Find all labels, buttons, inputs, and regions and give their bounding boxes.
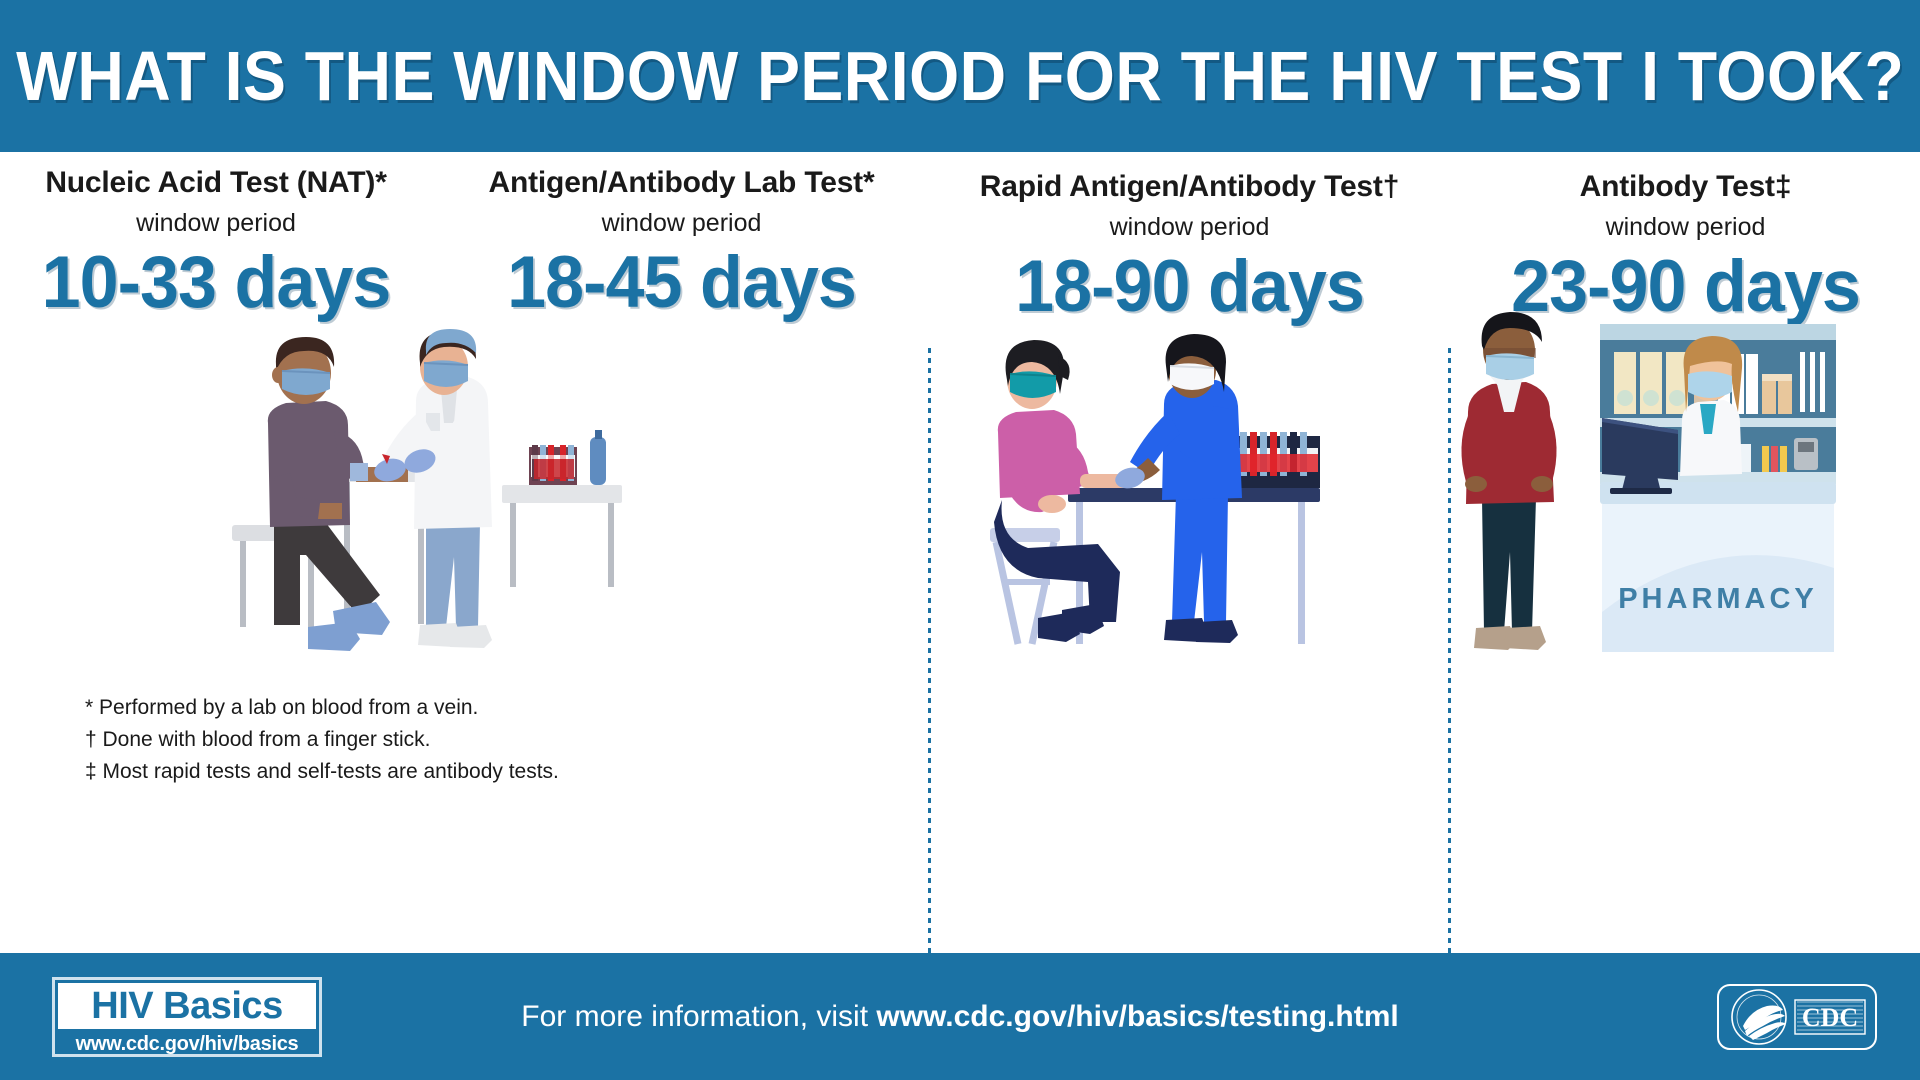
window-period-label: window period bbox=[1451, 215, 1920, 240]
footnotes: * Performed by a lab on blood from a vei… bbox=[85, 692, 559, 788]
footer-cta: For more information, visit www.cdc.gov/… bbox=[521, 1000, 1398, 1034]
header-bar: WHAT IS THE WINDOW PERIOD FOR THE HIV TE… bbox=[0, 0, 1920, 152]
window-period-value: 18-45 days bbox=[445, 246, 918, 319]
test-column-rapid-antigen-antibody: Rapid Antigen/Antibody Test† window peri… bbox=[931, 152, 1448, 323]
footnote-asterisk: * Performed by a lab on blood from a vei… bbox=[85, 692, 559, 724]
footnote-dagger: † Done with blood from a finger stick. bbox=[85, 724, 559, 756]
column-divider-2 bbox=[928, 348, 931, 973]
test-title: Antigen/Antibody Lab Test* bbox=[435, 166, 928, 199]
footer-bar: HIV Basics www.cdc.gov/hiv/basics For mo… bbox=[0, 953, 1920, 1080]
main-content: Nucleic Acid Test (NAT)* window period 1… bbox=[0, 152, 1920, 953]
test-title: Antibody Test‡ bbox=[1451, 170, 1920, 203]
cdc-wordmark: CDC bbox=[1795, 1000, 1865, 1034]
phlebotomy-blood-draw-illustration bbox=[230, 327, 630, 667]
test-column-nucleic-acid: Nucleic Acid Test (NAT)* window period 1… bbox=[0, 152, 432, 319]
svg-text:CDC: CDC bbox=[1802, 1003, 1858, 1032]
hiv-basics-logo-plate: HIV Basics bbox=[58, 983, 316, 1029]
window-period-value: 10-33 days bbox=[9, 246, 424, 319]
cdc-hhs-logo[interactable]: CDC bbox=[1717, 984, 1877, 1050]
hiv-basics-url: www.cdc.gov/hiv/basics bbox=[58, 1029, 316, 1054]
window-period-label: window period bbox=[931, 215, 1448, 240]
hiv-basics-title: HIV Basics bbox=[91, 987, 282, 1025]
hiv-basics-logo[interactable]: HIV Basics www.cdc.gov/hiv/basics bbox=[52, 977, 322, 1057]
window-period-label: window period bbox=[435, 211, 928, 236]
infographic-page: WHAT IS THE WINDOW PERIOD FOR THE HIV TE… bbox=[0, 0, 1920, 1080]
pharmacy-sign-text: PHARMACY bbox=[1618, 583, 1818, 615]
window-period-label: window period bbox=[0, 211, 432, 236]
test-column-antigen-antibody-lab: Antigen/Antibody Lab Test* window period… bbox=[435, 152, 928, 319]
finger-stick-rapid-test-illustration bbox=[980, 332, 1320, 672]
page-title: WHAT IS THE WINDOW PERIOD FOR THE HIV TE… bbox=[16, 36, 1904, 116]
test-title: Nucleic Acid Test (NAT)* bbox=[0, 166, 432, 199]
pharmacy-counter-illustration: PHARMACY bbox=[1450, 312, 1840, 657]
footer-cta-prefix: For more information, visit bbox=[521, 1000, 876, 1033]
test-title: Rapid Antigen/Antibody Test† bbox=[931, 170, 1448, 203]
footer-cta-link[interactable]: www.cdc.gov/hiv/basics/testing.html bbox=[876, 1000, 1398, 1033]
window-period-value: 18-90 days bbox=[941, 250, 1437, 323]
test-column-antibody: Antibody Test‡ window period 23-90 days bbox=[1451, 152, 1920, 323]
footnote-double-dagger: ‡ Most rapid tests and self-tests are an… bbox=[85, 756, 559, 788]
